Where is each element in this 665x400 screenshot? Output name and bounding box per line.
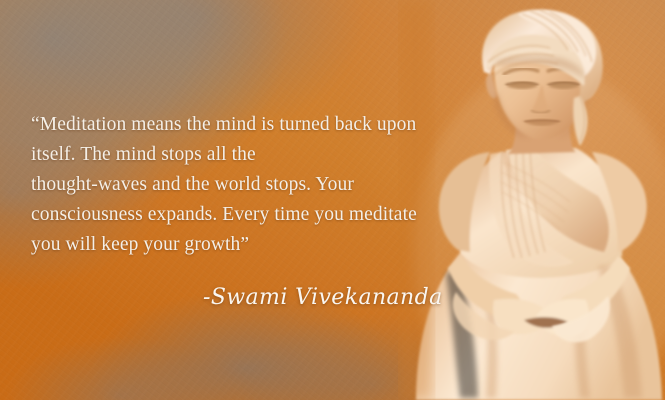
quote-line: consciousness expands. Every time you me… xyxy=(31,200,431,230)
quote-attribution: -Swami Vivekananda xyxy=(203,285,443,310)
quote-text-block: “Meditation means the mind is turned bac… xyxy=(31,110,431,260)
quote-line: thought-waves and the world stops. Your xyxy=(31,170,431,200)
swami-vivekananda-figure xyxy=(398,0,665,400)
quote-line: you will keep your growth” xyxy=(31,230,431,260)
quote-line: itself. The mind stops all the xyxy=(31,140,431,170)
quote-poster: “Meditation means the mind is turned bac… xyxy=(0,0,665,400)
quote-line: “Meditation means the mind is turned bac… xyxy=(31,110,431,140)
